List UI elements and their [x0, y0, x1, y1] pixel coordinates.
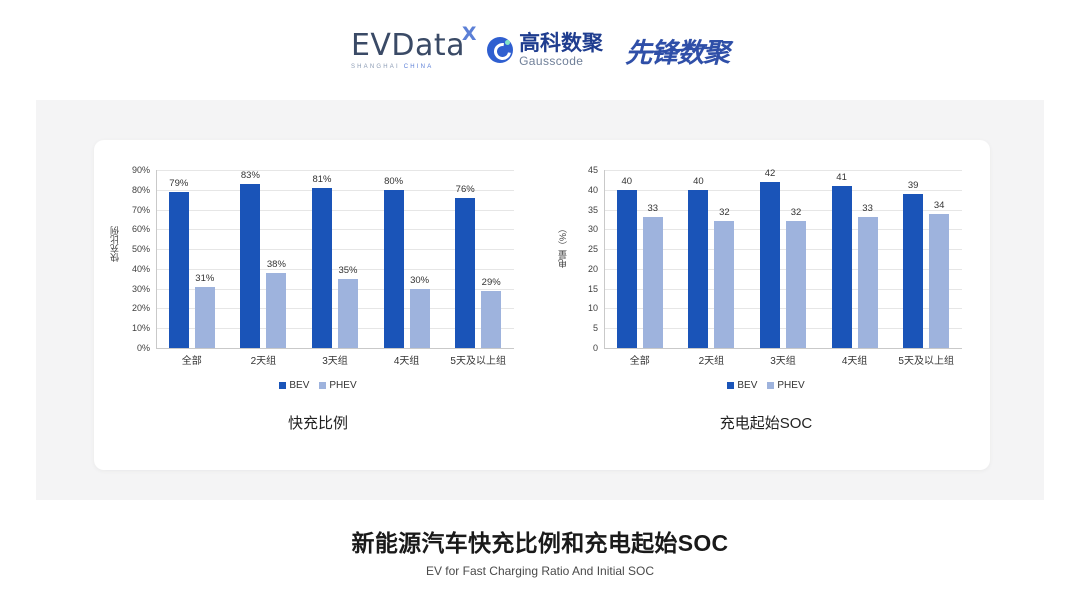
y-axis-tick: 0% [116, 344, 150, 353]
bar-value-label: 83% [231, 171, 269, 181]
evdata-logo: EVData X SHANGHAI CHINA [351, 31, 465, 70]
bar-bev [455, 198, 475, 348]
bar-phev [858, 217, 878, 348]
evdata-subtext: SHANGHAI CHINA [351, 64, 433, 70]
y-axis-label: 电量（%） [556, 224, 569, 268]
bar-value-label: 80% [375, 177, 413, 187]
bar-value-label: 33 [634, 204, 672, 214]
bar-value-label: 32 [705, 208, 743, 218]
gausscode-mark-icon [487, 37, 513, 63]
evdata-wordmark: EVData X [351, 31, 465, 61]
y-axis-tick: 40 [564, 186, 598, 195]
gausscode-en: Gausscode [519, 55, 603, 68]
y-axis-tick: 10% [116, 324, 150, 333]
bar-phev [195, 287, 215, 348]
legend-swatch-icon [767, 382, 774, 389]
legend-label: BEV [289, 380, 309, 391]
y-axis-tick: 35 [564, 206, 598, 215]
xianfeng-logo: 先锋数聚 [625, 31, 729, 70]
footer-title-cn: 新能源汽车快充比例和充电起始SOC [0, 524, 1080, 558]
gridline [156, 170, 514, 171]
bar-value-label: 32 [777, 208, 815, 218]
x-axis-tick: 4天组 [819, 357, 891, 367]
y-axis-tick: 15 [564, 285, 598, 294]
y-axis-line [604, 170, 605, 348]
y-axis-tick: 5 [564, 324, 598, 333]
y-axis-tick: 50% [116, 245, 150, 254]
y-axis-tick: 30% [116, 285, 150, 294]
y-axis-tick: 0 [564, 344, 598, 353]
y-axis-tick: 90% [116, 166, 150, 175]
evdata-data-text: Data [391, 31, 465, 61]
evdata-sub-left: SHANGHAI [351, 64, 404, 70]
y-axis-label: 快充比例 [108, 226, 121, 262]
bar-phev [266, 273, 286, 348]
x-axis-tick: 5天及以上组 [890, 357, 962, 367]
chart-legend: BEVPHEV [94, 380, 542, 391]
legend-label: BEV [737, 380, 757, 391]
x-axis-tick: 全部 [604, 357, 676, 367]
bar-value-label: 81% [303, 175, 341, 185]
bar-value-label: 79% [160, 179, 198, 189]
bar-value-label: 35% [329, 266, 367, 276]
bar-phev [786, 221, 806, 348]
y-axis-tick: 70% [116, 206, 150, 215]
chart-legend: BEVPHEV [542, 380, 990, 391]
x-axis-line [156, 348, 514, 349]
evdata-x-icon: X [462, 25, 477, 44]
footer: 新能源汽车快充比例和充电起始SOC EV for Fast Charging R… [0, 524, 1080, 578]
charts-card: 0%10%20%30%40%50%60%70%80%90%快充比例79%31%全… [94, 140, 990, 470]
bar-value-label: 33 [849, 204, 887, 214]
bar-phev [643, 217, 663, 348]
bar-value-label: 39 [894, 181, 932, 191]
x-axis-tick: 4天组 [371, 357, 443, 367]
x-axis-line [604, 348, 962, 349]
bar-value-label: 34 [920, 201, 958, 211]
x-axis-tick: 3天组 [747, 357, 819, 367]
y-axis-tick: 45 [564, 166, 598, 175]
x-axis-tick: 3天组 [299, 357, 371, 367]
bar-value-label: 30% [401, 276, 439, 286]
y-axis-tick: 25 [564, 245, 598, 254]
bar-bev [169, 192, 189, 348]
gausscode-logo: 高科数聚 Gausscode [487, 33, 603, 68]
bar-bev [760, 182, 780, 348]
bar-bev [384, 190, 404, 348]
footer-title-en: EV for Fast Charging Ratio And Initial S… [0, 564, 1080, 578]
gausscode-text: 高科数聚 Gausscode [519, 33, 603, 68]
bar-value-label: 38% [257, 260, 295, 270]
bar-value-label: 76% [446, 185, 484, 195]
evdata-ev-text: EV [351, 31, 391, 61]
y-axis-tick: 20% [116, 304, 150, 313]
y-axis-tick: 30 [564, 225, 598, 234]
evdata-sub-right: CHINA [404, 64, 434, 70]
legend-label: PHEV [777, 380, 804, 391]
bar-phev [929, 214, 949, 348]
y-axis-tick: 40% [116, 265, 150, 274]
y-axis-tick: 80% [116, 186, 150, 195]
bar-value-label: 29% [472, 278, 510, 288]
y-axis-line [156, 170, 157, 348]
bar-phev [338, 279, 358, 348]
bar-phev [481, 291, 501, 348]
gausscode-cn: 高科数聚 [519, 33, 603, 55]
legend-swatch-icon [727, 382, 734, 389]
x-axis-tick: 2天组 [676, 357, 748, 367]
bar-value-label: 40 [679, 177, 717, 187]
x-axis-tick: 全部 [156, 357, 228, 367]
legend-swatch-icon [279, 382, 286, 389]
x-axis-tick: 2天组 [228, 357, 300, 367]
legend-swatch-icon [319, 382, 326, 389]
bar-phev [410, 289, 430, 348]
x-axis-tick: 5天及以上组 [442, 357, 514, 367]
logo-bar: EVData X SHANGHAI CHINA 高科数聚 Gausscode 先… [0, 18, 1080, 82]
legend-item-bev[interactable]: BEV [279, 380, 309, 391]
bar-phev [714, 221, 734, 348]
bar-bev [903, 194, 923, 348]
bar-value-label: 40 [608, 177, 646, 187]
legend-label: PHEV [329, 380, 356, 391]
chart-fast-charging-ratio: 0%10%20%30%40%50%60%70%80%90%快充比例79%31%全… [94, 140, 542, 470]
chart-subtitle: 快充比例 [94, 412, 542, 433]
chart-initial-soc: 051015202530354045电量（%）4033全部40322天组4232… [542, 140, 990, 470]
y-axis-tick: 20 [564, 265, 598, 274]
legend-item-phev[interactable]: PHEV [767, 380, 804, 391]
y-axis-tick: 10 [564, 304, 598, 313]
legend-item-phev[interactable]: PHEV [319, 380, 356, 391]
y-axis-tick: 60% [116, 225, 150, 234]
bar-value-label: 41 [823, 173, 861, 183]
legend-item-bev[interactable]: BEV [727, 380, 757, 391]
bar-value-label: 31% [186, 274, 224, 284]
bar-value-label: 42 [751, 169, 789, 179]
chart-subtitle: 充电起始SOC [542, 412, 990, 433]
